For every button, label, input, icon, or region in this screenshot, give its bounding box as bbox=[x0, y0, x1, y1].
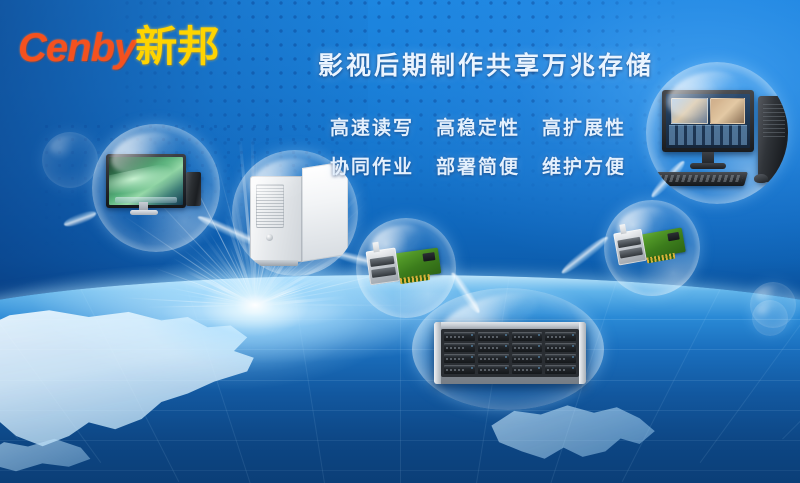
feature-item: 部署简便 bbox=[436, 152, 520, 179]
rack-drive-bay bbox=[512, 365, 543, 374]
brand-logo[interactable]: Cenby新邦 bbox=[18, 26, 219, 68]
rack-drive-bay bbox=[512, 343, 543, 352]
feature-row-1: 高速读写高稳定性高扩展性 bbox=[330, 113, 626, 140]
rack-drive-bay bbox=[478, 332, 509, 341]
nas-front-panel bbox=[250, 176, 302, 262]
rack-bay-column bbox=[512, 332, 543, 374]
rack-bay-column bbox=[478, 332, 509, 374]
workstation-video-preview-1 bbox=[671, 98, 708, 124]
rack-chassis bbox=[434, 322, 586, 384]
imac-screen-frame bbox=[106, 154, 186, 208]
nic-right-bracket bbox=[613, 229, 647, 266]
banner-root: Cenby新邦 影视后期制作共享万兆存储 高速读写高稳定性高扩展性 协同作业部署… bbox=[0, 0, 800, 483]
device-white-tower-nas bbox=[250, 168, 350, 268]
device-rack-storage-array bbox=[434, 322, 586, 384]
bubble-nic-left bbox=[356, 218, 456, 318]
rack-drive-bay bbox=[444, 365, 475, 374]
workstation-monitor-stand bbox=[690, 163, 726, 169]
rack-drive-bay bbox=[512, 354, 543, 363]
brand-logo-chinese: 新邦 bbox=[135, 23, 219, 70]
feature-item: 维护方便 bbox=[542, 152, 626, 179]
workstation-tower bbox=[758, 96, 788, 182]
feature-item: 协同作业 bbox=[330, 152, 414, 179]
feature-row-2: 协同作业部署简便维护方便 bbox=[330, 152, 626, 179]
nic-left-port-2 bbox=[371, 267, 396, 278]
rack-drive-bay bbox=[444, 343, 475, 352]
device-pcie-network-card-right bbox=[613, 221, 693, 271]
rack-drive-bay bbox=[545, 354, 576, 363]
rack-drive-bay bbox=[512, 332, 543, 341]
rack-drive-bay bbox=[478, 365, 509, 374]
imac-screen bbox=[109, 157, 183, 205]
imac-side-tower bbox=[186, 172, 201, 206]
workstation-screen bbox=[666, 94, 750, 148]
nic-left-port-1 bbox=[370, 256, 395, 267]
bubble-nic-right bbox=[604, 200, 700, 296]
workstation-mouse bbox=[754, 174, 768, 183]
rack-drive-bay bbox=[444, 332, 475, 341]
nic-right-port-1 bbox=[617, 237, 641, 248]
workstation-editing-timeline bbox=[669, 125, 746, 144]
rack-right-ear bbox=[579, 322, 586, 384]
nic-left-pcb bbox=[392, 248, 441, 280]
rack-drive-bay bbox=[444, 354, 475, 363]
nic-left-mounting-tab bbox=[372, 242, 379, 253]
workstation-tower-vent bbox=[763, 104, 785, 138]
rack-drive-bay bbox=[478, 354, 509, 363]
nic-left-gold-fingers bbox=[400, 274, 431, 284]
rack-bay-column bbox=[444, 332, 475, 374]
device-pcie-network-card-left bbox=[366, 241, 449, 291]
nic-right-port-2 bbox=[619, 247, 643, 258]
nas-vent-grill bbox=[256, 184, 284, 228]
nas-base bbox=[254, 260, 298, 266]
rack-drive-bay bbox=[478, 343, 509, 352]
feature-item: 高速读写 bbox=[330, 113, 414, 140]
decorative-bubble-left bbox=[42, 132, 98, 188]
imac-base bbox=[130, 210, 158, 215]
brand-logo-latin: Cenby bbox=[18, 26, 135, 70]
nas-power-button bbox=[266, 234, 273, 241]
workstation-monitor-frame bbox=[662, 90, 754, 152]
nic-left-chip bbox=[422, 252, 435, 262]
workstation-keyboard bbox=[652, 172, 748, 186]
bubble-workstation bbox=[646, 62, 788, 204]
feature-item: 高扩展性 bbox=[542, 113, 626, 140]
rack-drive-bay bbox=[545, 365, 576, 374]
rack-bay-column bbox=[545, 332, 576, 374]
nic-right-gold-fingers bbox=[646, 253, 675, 264]
device-desktop-workstation bbox=[662, 90, 788, 190]
nic-left-bracket bbox=[366, 247, 400, 285]
bubble-imac bbox=[92, 124, 220, 252]
nic-right-chip bbox=[667, 232, 680, 241]
rack-drive-bay-grid bbox=[441, 329, 579, 377]
feature-item: 高稳定性 bbox=[436, 113, 520, 140]
nic-right-mounting-tab bbox=[619, 224, 626, 234]
rack-drive-bay bbox=[545, 332, 576, 341]
rack-drive-bay bbox=[545, 343, 576, 352]
decorative-bubble-right-tiny bbox=[752, 300, 788, 336]
device-imac-monitor bbox=[106, 154, 206, 218]
rack-left-ear bbox=[434, 322, 441, 384]
workstation-video-preview-2 bbox=[710, 98, 746, 124]
workstation-keyboard-keys bbox=[657, 175, 743, 182]
page-title: 影视后期制作共享万兆存储 bbox=[318, 46, 654, 82]
